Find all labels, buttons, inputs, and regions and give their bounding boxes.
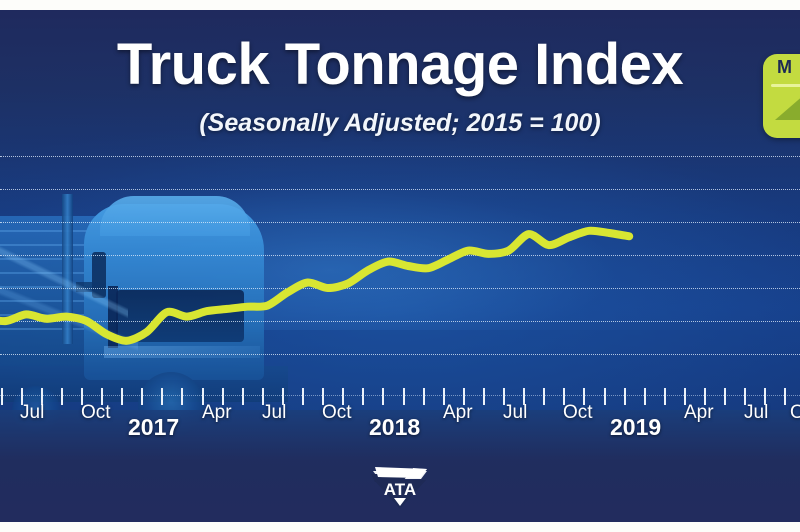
axis-baseline	[0, 395, 800, 396]
truck-tonnage-chart-image: JulOctAprJulOctAprJulOctAprJulOct 201720…	[0, 0, 800, 532]
axis-tick-major	[141, 388, 143, 405]
ata-shield-logo: ATA	[369, 465, 431, 513]
axis-tick-major	[181, 388, 183, 405]
axis-tick-major	[604, 388, 606, 405]
x-axis-month-label: Oct	[563, 402, 593, 424]
axis-tick-major	[382, 388, 384, 405]
x-axis-month-label: Apr	[443, 402, 473, 424]
axis-tick-major	[664, 388, 666, 405]
x-axis-month-label: Jul	[744, 402, 768, 424]
x-axis-month-label: Jul	[262, 402, 286, 424]
axis-tick-major	[403, 388, 405, 405]
axis-tick-major	[644, 388, 646, 405]
axis-tick-major	[724, 388, 726, 405]
x-axis-year-label: 2017	[128, 414, 179, 441]
axis-tick-major	[624, 388, 626, 405]
axis-tick-major	[483, 388, 485, 405]
axis-tick-major	[302, 388, 304, 405]
top-white-band	[0, 0, 800, 10]
x-axis-year-label: 2019	[610, 414, 661, 441]
axis-tick-major	[423, 388, 425, 405]
triangle-up-icon	[775, 94, 800, 120]
axis-tick-major	[61, 388, 63, 405]
x-axis	[0, 388, 800, 406]
x-axis-year-label: 2018	[369, 414, 420, 441]
chart-canvas: JulOctAprJulOctAprJulOctAprJulOct 201720…	[0, 10, 800, 522]
badge-label: M	[777, 57, 792, 78]
badge-divider	[771, 84, 800, 87]
x-axis-month-label: Apr	[684, 402, 714, 424]
monthly-change-badge[interactable]: M	[763, 54, 800, 138]
page-subtitle: (Seasonally Adjusted; 2015 = 100)	[0, 109, 800, 138]
bottom-white-band	[0, 522, 800, 532]
x-axis-month-label: Jul	[20, 402, 44, 424]
axis-tick-major	[1, 388, 3, 405]
axis-tick-major	[121, 388, 123, 405]
x-axis-month-label: Oct	[322, 402, 352, 424]
axis-tick-major	[543, 388, 545, 405]
axis-tick-major	[161, 388, 163, 405]
ata-logo-text: ATA	[384, 480, 416, 499]
x-axis-month-label: Oct	[790, 402, 800, 424]
axis-tick-major	[784, 388, 786, 405]
x-axis-month-label: Apr	[202, 402, 232, 424]
axis-tick-major	[242, 388, 244, 405]
x-axis-month-label: Jul	[503, 402, 527, 424]
axis-tick-major	[362, 388, 364, 405]
x-axis-month-label: Oct	[81, 402, 111, 424]
page-title: Truck Tonnage Index	[0, 36, 800, 94]
